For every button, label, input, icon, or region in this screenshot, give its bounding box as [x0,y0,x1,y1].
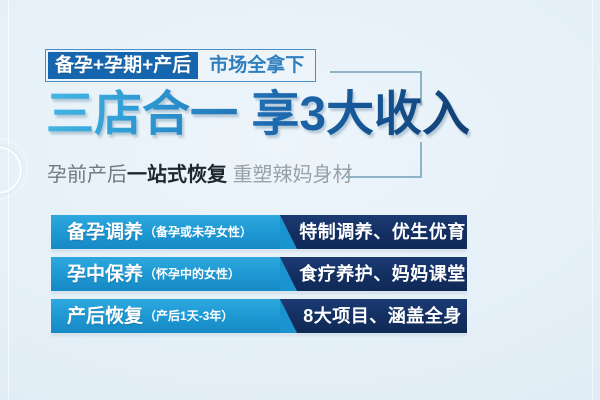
feature-title: 产后恢复 [67,307,143,326]
feature-label-block: 孕中保养 （怀孕中的女性） [51,257,280,291]
row-shadow [51,249,467,252]
feature-note: （怀孕中的女性） [144,268,240,280]
feature-note: （产后1天-3年） [144,310,233,322]
promo-banner: 备孕+孕期+产后 市场全拿下 三店合一 享3大收入 孕前产后一站式恢复 重塑辣妈… [0,0,600,400]
feature-list: 备孕调养 （备孕或未孕女性） 特制调养、优生优育 孕中保养 （怀孕中的女性） 食… [51,215,467,341]
row-shadow [51,333,467,336]
bracket-top-line [330,71,422,73]
feature-benefit-block: 8大项目、涵盖全身 [280,299,467,333]
list-item: 产后恢复 （产后1天-3年） 8大项目、涵盖全身 [51,299,467,333]
feature-benefit: 特制调养、优生优育 [299,223,466,241]
subtitle-part-2-emphasis: 一站式恢复 [127,164,227,186]
top-tag: 备孕+孕期+产后 市场全拿下 [45,49,316,82]
row-shadow [51,291,467,294]
feature-note: （备孕或未孕女性） [144,226,252,238]
feature-benefit: 食疗养护、妈妈课堂 [299,265,466,283]
feature-benefit-block: 食疗养护、妈妈课堂 [280,257,467,291]
feature-label-block: 产后恢复 （产后1天-3年） [51,299,280,333]
bracket-right-lower-line [420,142,422,178]
top-tag-highlight: 备孕+孕期+产后 [48,52,198,79]
feature-title: 备孕调养 [67,223,143,242]
list-item: 备孕调养 （备孕或未孕女性） 特制调养、优生优育 [51,215,467,249]
feature-benefit: 8大项目、涵盖全身 [303,307,462,325]
subtitle-part-1: 孕前产后 [47,164,127,186]
bracket-bottom-line [346,176,422,178]
subtitle-part-3: 重塑辣妈身材 [233,164,353,186]
feature-title: 孕中保养 [67,265,143,284]
feature-benefit-block: 特制调养、优生优育 [280,215,467,249]
feature-label-block: 备孕调养 （备孕或未孕女性） [51,215,280,249]
subtitle: 孕前产后一站式恢复 重塑辣妈身材 [47,163,353,187]
list-item: 孕中保养 （怀孕中的女性） 食疗养护、妈妈课堂 [51,257,467,291]
top-tag-plain: 市场全拿下 [198,52,313,79]
page-title: 三店合一 享3大收入 [46,87,470,143]
